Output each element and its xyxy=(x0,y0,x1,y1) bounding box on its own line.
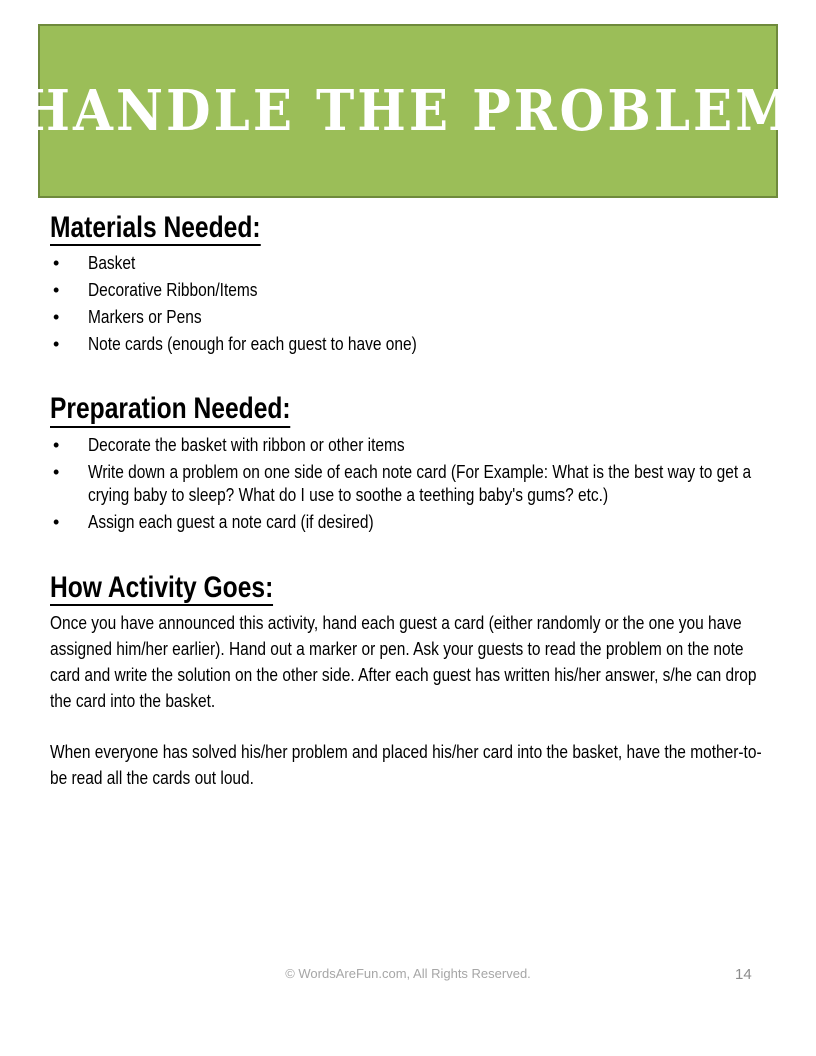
list-item-label: Assign each guest a note card (if desire… xyxy=(88,511,764,535)
list-item-label: Note cards (enough for each guest to hav… xyxy=(88,333,764,357)
list-item-label: Basket xyxy=(88,252,764,276)
list-item-label: Write down a problem on one side of each… xyxy=(88,461,764,509)
materials-list: • Basket • Decorative Ribbon/Items • Mar… xyxy=(50,252,766,356)
bullet-icon: • xyxy=(53,306,59,330)
bullet-icon: • xyxy=(53,434,59,458)
bullet-icon: • xyxy=(53,461,59,485)
footer-copyright: © WordsAreFun.com, All Rights Reserved. xyxy=(0,966,816,981)
preparation-heading: Preparation Needed: xyxy=(50,393,291,427)
section-materials: Materials Needed: • Basket • Decorative … xyxy=(50,212,766,356)
spacer xyxy=(50,715,766,735)
spacer xyxy=(50,359,766,393)
list-item: • Decorate the basket with ribbon or oth… xyxy=(50,434,766,458)
list-item: • Write down a problem on one side of ea… xyxy=(50,461,766,509)
page-number: 14 xyxy=(735,966,775,983)
document-page: HANDLE THE PROBLEM Materials Needed: • B… xyxy=(0,0,816,1056)
spacer xyxy=(50,538,766,572)
how-activity-goes-heading: How Activity Goes: xyxy=(50,572,273,606)
list-item: • Assign each guest a note card (if desi… xyxy=(50,511,766,535)
page-title: HANDLE THE PROBLEM xyxy=(21,83,795,139)
how-activity-paragraph-1: Once you have announced this activity, h… xyxy=(50,610,764,714)
section-preparation: Preparation Needed: • Decorate the baske… xyxy=(50,393,766,534)
list-item-label: Decorative Ribbon/Items xyxy=(88,279,764,303)
materials-heading: Materials Needed: xyxy=(50,212,261,246)
preparation-list: • Decorate the basket with ribbon or oth… xyxy=(50,434,766,535)
how-activity-paragraph-2: When everyone has solved his/her problem… xyxy=(50,739,764,791)
list-item: • Basket xyxy=(50,252,766,276)
list-item: • Markers or Pens xyxy=(50,306,766,330)
list-item-label: Markers or Pens xyxy=(88,306,764,330)
bullet-icon: • xyxy=(53,511,59,535)
list-item: • Decorative Ribbon/Items xyxy=(50,279,766,303)
title-banner: HANDLE THE PROBLEM xyxy=(38,24,778,198)
bullet-icon: • xyxy=(53,252,59,276)
document-content: Materials Needed: • Basket • Decorative … xyxy=(50,212,766,791)
section-how-activity-goes: How Activity Goes: Once you have announc… xyxy=(50,572,766,791)
list-item-label: Decorate the basket with ribbon or other… xyxy=(88,434,764,458)
bullet-icon: • xyxy=(53,333,59,357)
list-item: • Note cards (enough for each guest to h… xyxy=(50,333,766,357)
bullet-icon: • xyxy=(53,279,59,303)
